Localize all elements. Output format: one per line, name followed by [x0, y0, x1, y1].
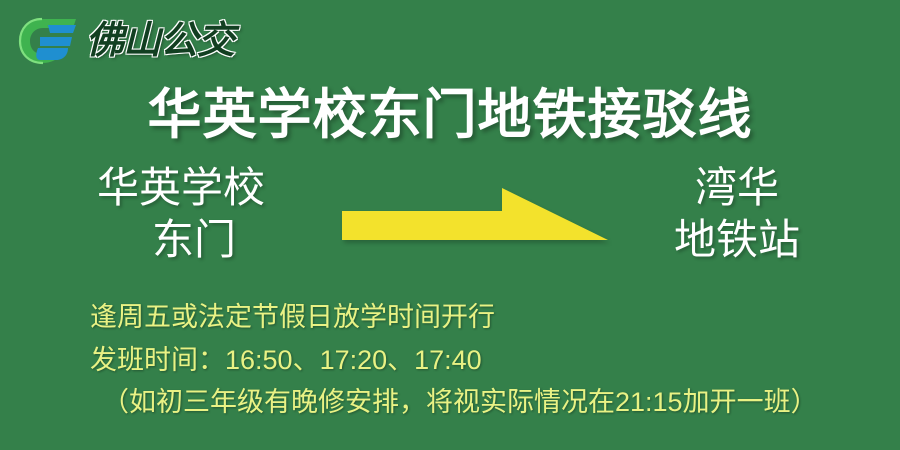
- route-title: 华英学校东门地铁接驳线: [0, 88, 900, 142]
- schedule-notes: 逢周五或法定节假日放学时间开行 发班时间：16:50、17:20、17:40 （…: [0, 296, 900, 424]
- foshan-bus-logo-icon: [18, 15, 80, 67]
- destination-station-line2: 地铁站: [592, 214, 882, 266]
- note-operating-days: 逢周五或法定节假日放学时间开行: [90, 296, 900, 339]
- brand-header: 佛山公交: [18, 10, 234, 72]
- right-arrow-icon: [336, 182, 616, 262]
- note-extra-trip: （如初三年级有晚修安排，将视实际情况在21:15加开一班）: [90, 381, 900, 424]
- bus-route-poster: 佛山公交 华英学校东门地铁接驳线 华英学校 东门 湾华 地铁站 逢周五或法定节假…: [0, 0, 900, 450]
- origin-station-line2: 东门: [36, 214, 326, 266]
- origin-station-line1: 华英学校: [36, 162, 326, 214]
- origin-station: 华英学校 东门: [36, 162, 326, 265]
- destination-station: 湾华 地铁站: [592, 162, 882, 265]
- destination-station-line1: 湾华: [592, 162, 882, 214]
- origin-destination-band: 华英学校 东门 湾华 地铁站: [0, 162, 900, 287]
- note-departure-times: 发班时间：16:50、17:20、17:40: [90, 339, 900, 382]
- brand-name: 佛山公交: [86, 22, 234, 60]
